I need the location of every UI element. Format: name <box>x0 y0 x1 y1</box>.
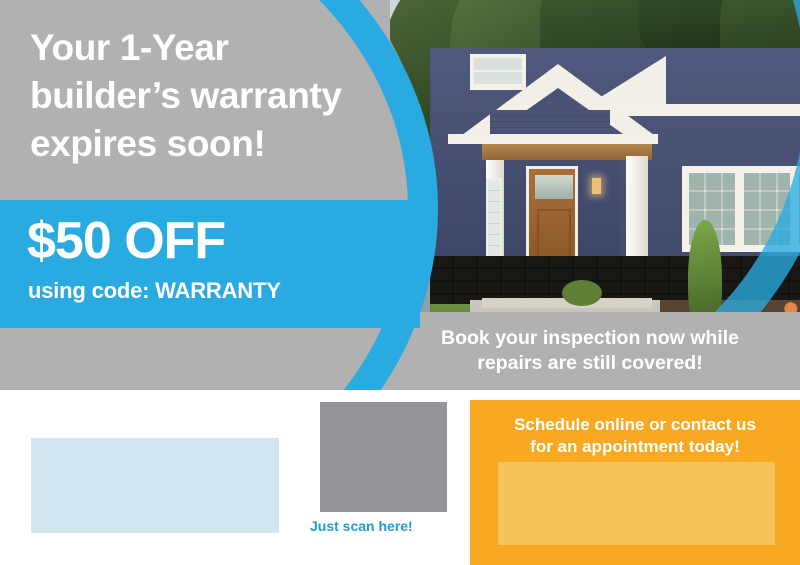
door-sidelight-window <box>486 178 502 258</box>
offer-amount: $50 OFF <box>27 215 225 267</box>
garden-bed <box>660 300 800 312</box>
top-panel: Your 1-Year builder’s warranty expires s… <box>0 0 800 390</box>
contact-panel-text: Schedule online or contact us for an app… <box>478 414 792 458</box>
qr-caption: Just scan here! <box>310 518 460 534</box>
cta-line-1: Book your inspection now while <box>400 326 780 351</box>
porch-light-icon <box>592 178 601 194</box>
window-pane <box>742 171 792 247</box>
headline-line-2: builder’s warranty <box>30 72 430 120</box>
porch-eave <box>448 134 658 144</box>
headline-line-1: Your 1-Year <box>30 24 430 72</box>
contact-line-1: Schedule online or contact us <box>478 414 792 436</box>
qr-code-placeholder[interactable] <box>320 402 447 512</box>
offer-promo-code: using code: WARRANTY <box>28 278 281 304</box>
headline-line-3: expires soon! <box>30 120 430 168</box>
house-photo <box>390 0 800 312</box>
door-glass-panel <box>535 175 573 199</box>
house-structure <box>430 48 800 258</box>
postcard-mailer: Your 1-Year builder’s warranty expires s… <box>0 0 800 565</box>
porch-column <box>626 156 648 272</box>
contact-details-placeholder <box>498 462 775 545</box>
flower-bed <box>780 288 800 312</box>
stone-veneer-base <box>430 256 800 304</box>
shrub <box>562 280 602 306</box>
contact-panel: Schedule online or contact us for an app… <box>470 400 800 565</box>
door-wood-panel <box>537 209 571 261</box>
upper-window <box>470 54 526 90</box>
mailing-address-placeholder <box>31 438 279 533</box>
front-door <box>526 166 578 270</box>
bottom-panel: Just scan here! Schedule online or conta… <box>0 390 800 565</box>
contact-line-2: for an appointment today! <box>478 436 792 458</box>
page-title: Your 1-Year builder’s warranty expires s… <box>30 24 430 168</box>
cta-text: Book your inspection now while repairs a… <box>400 326 780 377</box>
cta-line-2: repairs are still covered! <box>400 351 780 376</box>
